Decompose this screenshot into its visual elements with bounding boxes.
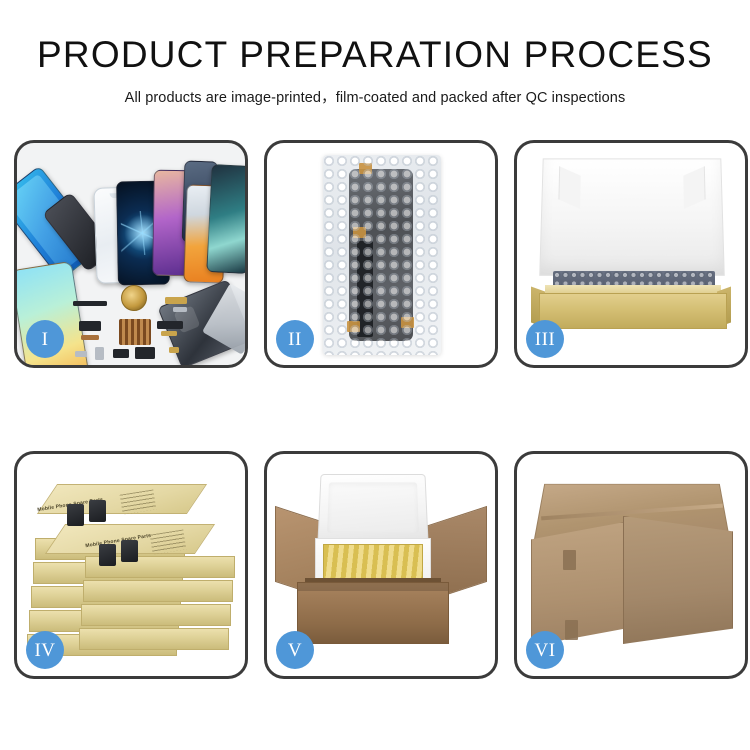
step-badge-5: V [276, 631, 314, 669]
retail-box-screen-upper-1 [67, 504, 84, 526]
panel-foam-lined-carton: V [264, 451, 498, 679]
lid-flap-right [683, 166, 705, 209]
white-box-lid-icon [539, 158, 725, 275]
step-badge-2: II [276, 320, 314, 358]
step-badge-1: I [26, 320, 64, 358]
part-bracket-icon [75, 351, 87, 357]
gold-tape-1 [359, 163, 372, 174]
carton-front-icon [297, 582, 449, 644]
spare-parts-cluster [73, 285, 213, 365]
gold-tape-3 [347, 321, 360, 332]
gold-tape-2 [353, 227, 366, 238]
lid-flap-left [558, 166, 580, 209]
part-screw-icon [169, 347, 179, 353]
part-speaker-icon [135, 347, 155, 359]
part-copper-strip [81, 335, 99, 340]
chip-grid-icon [119, 319, 151, 345]
carton-tape-lower [565, 620, 578, 640]
panel-open-kraft-box: III [514, 140, 748, 368]
header: PRODUCT PREPARATION PROCESS All products… [0, 36, 750, 107]
step-badge-3: III [526, 320, 564, 358]
carton-right-face [623, 516, 733, 644]
kraft-box-front-icon [539, 293, 727, 329]
foam-lid-icon [317, 474, 428, 544]
part-connector-2 [173, 307, 187, 312]
retail-box-screen-lower-1 [99, 544, 116, 566]
product-preparation-infographic: PRODUCT PREPARATION PROCESS All products… [0, 0, 750, 750]
speaker-coil-icon [121, 285, 147, 311]
part-camera-icon [113, 349, 129, 358]
gold-tape-4 [401, 317, 414, 328]
retail-box-layer-4b [81, 604, 231, 626]
panel-product-components: I [14, 140, 248, 368]
step-badge-4: IV [26, 631, 64, 669]
page-subtitle: All products are image-printed，film-coat… [0, 86, 750, 107]
part-gold-pad [161, 331, 177, 336]
panel-stacked-retail-boxes: Mobile Phone Spare Parts Mobile Phone Sp… [14, 451, 248, 679]
process-step-grid: I II [14, 140, 748, 685]
retail-box-layer-3b [83, 580, 233, 602]
retail-box-layer-5b [79, 628, 229, 650]
retail-box-screen-upper-2 [89, 500, 106, 522]
bubble-wrap-bag-icon [323, 155, 441, 355]
step-badge-6: VI [526, 631, 564, 669]
carton-tape-upper [563, 550, 576, 570]
part-strip-1 [73, 301, 107, 306]
part-flex-cable-2 [157, 321, 183, 329]
part-button-icon [95, 347, 104, 360]
part-flex-cable-1 [79, 321, 101, 331]
panel-sealed-shipping-carton: VI [514, 451, 748, 679]
panel-bubble-wrapped-part: II [264, 140, 498, 368]
yellow-boxes-inside-icon [323, 544, 423, 580]
page-title: PRODUCT PREPARATION PROCESS [0, 36, 750, 73]
retail-box-screen-lower-2 [121, 540, 138, 562]
phone-teal-icon [206, 164, 245, 274]
part-connector-1 [165, 297, 187, 304]
carton-left-face [531, 522, 625, 646]
